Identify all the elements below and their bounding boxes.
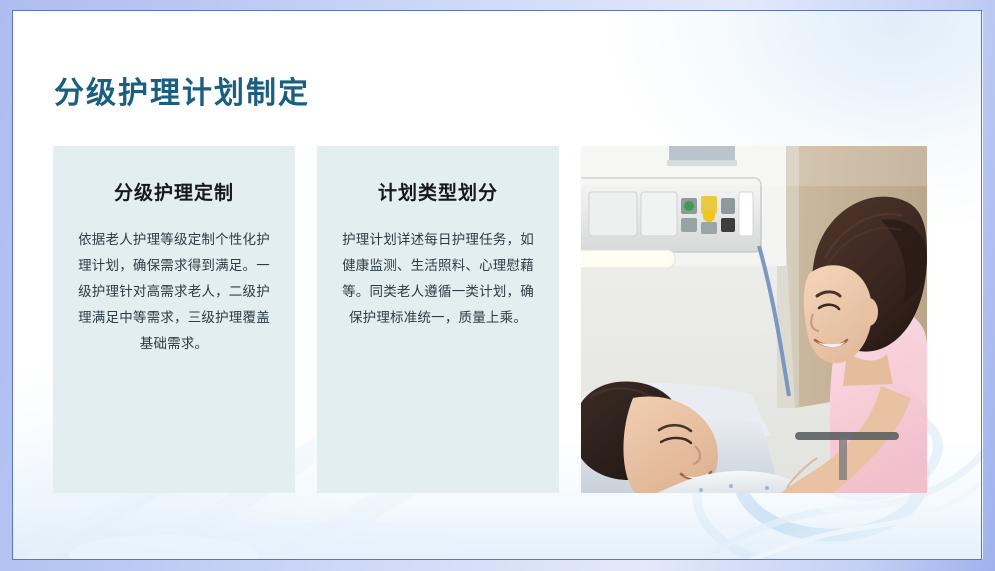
nurse-and-patient-photo — [581, 146, 927, 493]
card-grading-body: 依据老人护理等级定制个性化护理计划，确保需求得到满足。一级护理针对高需求老人，二… — [74, 227, 274, 357]
card-plan-types: 计划类型划分 护理计划详述每日护理任务，如健康监测、生活照料、心理慰藉等。同类老… — [317, 146, 559, 493]
content-row: 分级护理定制 依据老人护理等级定制个性化护理计划，确保需求得到满足。一级护理针对… — [53, 146, 947, 493]
slide-frame: 分级护理计划制定 分级护理定制 依据老人护理等级定制个性化护理计划，确保需求得到… — [0, 0, 995, 571]
card-grading: 分级护理定制 依据老人护理等级定制个性化护理计划，确保需求得到满足。一级护理针对… — [53, 146, 295, 493]
slide-canvas: 分级护理计划制定 分级护理定制 依据老人护理等级定制个性化护理计划，确保需求得到… — [13, 11, 983, 559]
card-grading-title: 分级护理定制 — [114, 178, 234, 205]
card-plan-types-body: 护理计划详述每日护理任务，如健康监测、生活照料、心理慰藉等。同类老人遵循一类计划… — [338, 227, 538, 331]
page-title: 分级护理计划制定 — [54, 68, 310, 112]
card-plan-types-title: 计划类型划分 — [378, 178, 498, 205]
photo-illustration — [581, 146, 927, 493]
